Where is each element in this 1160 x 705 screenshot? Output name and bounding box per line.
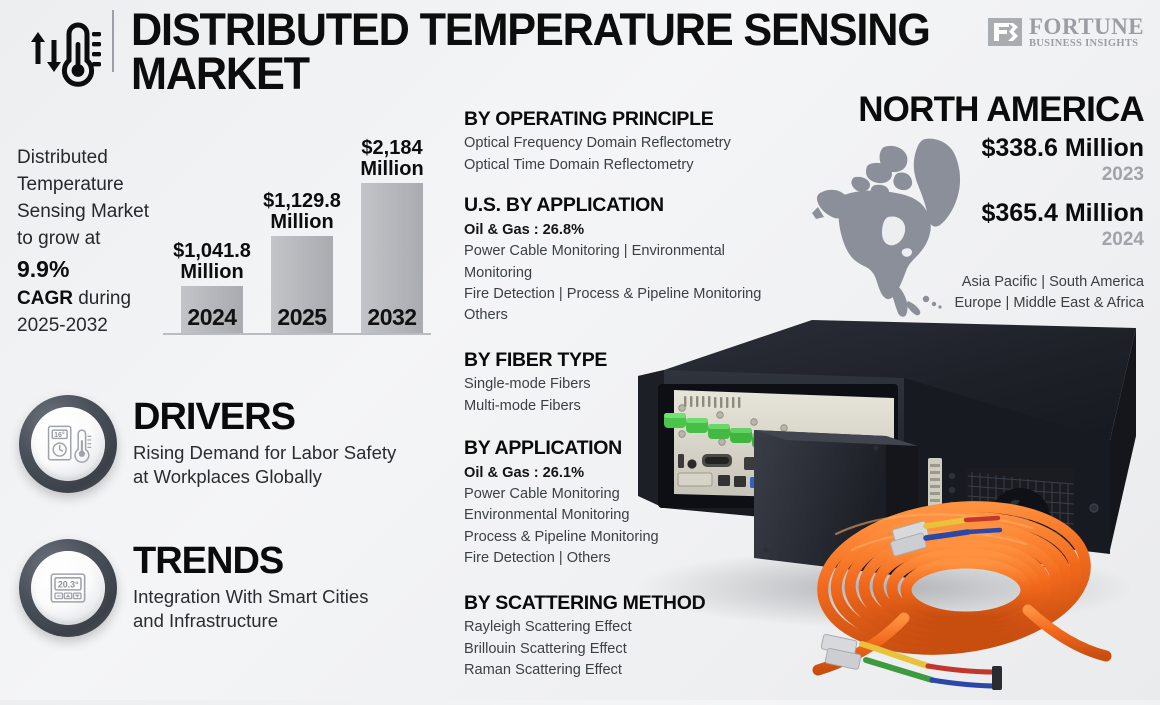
- region-year-2023: 2023: [981, 162, 1144, 188]
- bar-label-2025: 2025: [277, 304, 326, 331]
- drivers-title: DRIVERS: [133, 398, 396, 436]
- smart-thermostat-icon: 20.3°: [31, 551, 105, 625]
- segment-heading: U.S. BY APPLICATION: [464, 194, 794, 217]
- fortune-business-insights-logo-icon: [988, 18, 1022, 46]
- summary-line-4: to grow at: [17, 228, 100, 249]
- bar-value-2025: $1,129.8Million: [263, 191, 341, 233]
- drivers-description: Rising Demand for Labor Safetyat Workpla…: [133, 441, 396, 488]
- logo-name: FORTUNE: [1029, 15, 1144, 38]
- page-title: DISTRIBUTED TEMPERATURE SENSING MARKET: [131, 8, 937, 96]
- bar-group-2032: $2,184Million 2032: [361, 183, 423, 333]
- segment-operating-principle: BY OPERATING PRINCIPLE Optical Frequency…: [464, 108, 794, 176]
- summary-line-1: Distributed: [17, 147, 108, 168]
- summary-line-2: Temperature: [17, 174, 124, 195]
- segment-heading: BY OPERATING PRINCIPLE: [464, 108, 794, 131]
- summary-line-3: Sensing Market: [17, 201, 149, 222]
- drivers-block: 16° DRIVERS Rising Demand for Labor Safe…: [19, 395, 396, 493]
- bar-group-2024: $1,041.8Million 2024: [181, 286, 243, 333]
- segment-item: Optical Time Domain Reflectometry: [464, 155, 794, 176]
- region-value-2023: $338.6 Million: [981, 135, 1144, 162]
- bar-label-2024: 2024: [187, 304, 236, 331]
- other-regions-line-1: Asia Pacific | South America: [954, 272, 1144, 293]
- region-title: NORTH AMERICA: [858, 90, 1144, 130]
- region-figures: $338.6 Million 2023 $365.4 Million 2024: [981, 135, 1144, 264]
- trends-badge-ring: 20.3°: [19, 539, 117, 637]
- region-value-2024: $365.4 Million: [981, 200, 1144, 227]
- brand-logo: FORTUNE BUSINESS INSIGHTS: [988, 12, 1146, 52]
- forecast-period: 2025-2032: [17, 315, 108, 336]
- segment-item: Power Cable Monitoring | Environmental M…: [464, 241, 794, 284]
- svg-text:16°: 16°: [54, 431, 65, 439]
- header-divider: [112, 10, 114, 72]
- trends-block: 20.3° TRENDS Integration With S: [19, 539, 368, 637]
- trends-title: TRENDS: [133, 542, 368, 580]
- logo-tagline: BUSINESS INSIGHTS: [1029, 39, 1144, 50]
- bar-label-2032: 2032: [367, 304, 416, 331]
- segment-item: Optical Frequency Domain Reflectometry: [464, 133, 794, 154]
- svg-text:20.3°: 20.3°: [58, 579, 79, 589]
- market-bar-chart: $1,041.8Million 2024 $1,129.8Million 202…: [163, 125, 431, 335]
- dts-interrogator-product-image: [636, 318, 1160, 700]
- trends-text: TRENDS Integration With Smart Citiesand …: [133, 542, 368, 634]
- drivers-badge-ring: 16°: [19, 395, 117, 493]
- region-year-2024: 2024: [981, 227, 1144, 253]
- market-summary-text: Distributed Temperature Sensing Market t…: [17, 145, 167, 340]
- segment-highlight: Oil & Gas : 26.8%: [464, 220, 794, 241]
- cagr-value: 9.9%: [17, 256, 69, 282]
- cagr-during: during: [73, 288, 131, 309]
- drivers-text: DRIVERS Rising Demand for Labor Safetyat…: [133, 398, 396, 490]
- thermometer-arrows-icon: [14, 10, 106, 92]
- cagr-label: CAGR: [17, 288, 73, 309]
- segment-us-by-application: U.S. BY APPLICATION Oil & Gas : 26.8% Po…: [464, 194, 794, 327]
- chart-baseline-axis: [163, 333, 431, 335]
- bar-value-2024: $1,041.8Million: [173, 241, 251, 283]
- trends-description: Integration With Smart Citiesand Infrast…: [133, 585, 368, 632]
- temperature-controller-icon: 16°: [31, 407, 105, 481]
- infographic-page: DISTRIBUTED TEMPERATURE SENSING MARKET F…: [0, 0, 1160, 700]
- bar-value-2032: $2,184Million: [360, 138, 423, 180]
- other-regions-list: Asia Pacific | South America Europe | Mi…: [954, 272, 1144, 315]
- bar-group-2025: $1,129.8Million 2025: [271, 236, 333, 333]
- other-regions-line-2: Europe | Middle East & Africa: [954, 293, 1144, 314]
- segment-item: Fire Detection | Process & Pipeline Moni…: [464, 284, 794, 305]
